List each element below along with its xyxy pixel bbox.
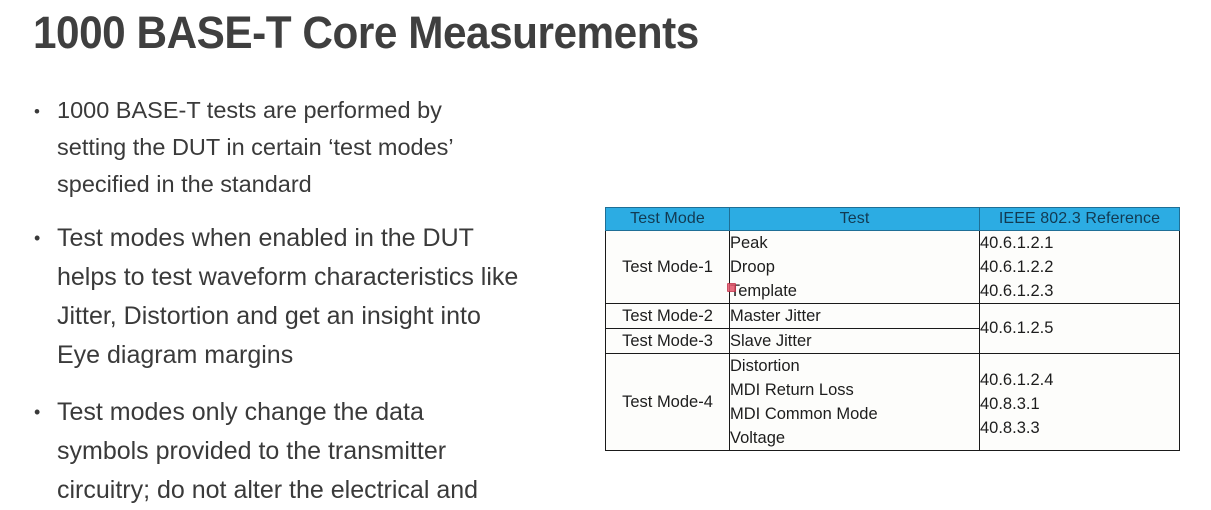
- comment-anchor-icon[interactable]: [727, 283, 736, 292]
- table-row: Test Mode-1 Peak Droop Template 40.6.1.2…: [606, 231, 1180, 304]
- measurements-table-container: Test Mode Test IEEE 802.3 Reference Test…: [605, 207, 1179, 451]
- table-row: Test Mode-4 Distortion MDI Return Loss M…: [606, 354, 1180, 451]
- list-item: • 1000 BASE-T tests are performed by set…: [28, 92, 588, 203]
- cell-test-mode: Test Mode-1: [606, 231, 730, 304]
- reference-clause: 40.8.3.3: [980, 416, 1179, 440]
- cell-reference: 40.6.1.2.5: [980, 304, 1180, 354]
- cell-test-list: Distortion MDI Return Loss MDI Common Mo…: [730, 354, 980, 451]
- bullet-list: • 1000 BASE-T tests are performed by set…: [28, 92, 588, 510]
- page-title: 1000 BASE-T Core Measurements: [33, 2, 699, 64]
- test-name: MDI Return Loss: [730, 378, 979, 402]
- cell-test-list: Peak Droop Template: [730, 231, 980, 304]
- test-name: MDI Common Mode: [730, 402, 979, 426]
- table-header: Test Mode Test IEEE 802.3 Reference: [606, 208, 1180, 231]
- reference-clause: 40.6.1.2.4: [980, 368, 1179, 392]
- table-row: Test Mode-2 Master Jitter 40.6.1.2.5: [606, 304, 1180, 329]
- list-item: • Test modes only change the data symbol…: [28, 393, 588, 510]
- table-header-row: Test Mode Test IEEE 802.3 Reference: [606, 208, 1180, 231]
- cell-test-mode: Test Mode-2: [606, 304, 730, 329]
- cell-test-mode: Test Mode-4: [606, 354, 730, 451]
- reference-clause: 40.6.1.2.3: [980, 279, 1179, 303]
- reference-clause: 40.6.1.2.1: [980, 231, 1179, 255]
- list-item-text: Test modes only change the data symbols …: [57, 393, 588, 510]
- column-header-test-mode: Test Mode: [606, 208, 730, 231]
- list-item-text: 1000 BASE-T tests are performed by setti…: [57, 92, 588, 203]
- measurements-table: Test Mode Test IEEE 802.3 Reference Test…: [605, 207, 1180, 451]
- test-name: Droop: [730, 255, 979, 279]
- cell-reference-list: 40.6.1.2.1 40.6.1.2.2 40.6.1.2.3: [980, 231, 1180, 304]
- cell-reference-list: 40.6.1.2.4 40.8.3.1 40.8.3.3: [980, 354, 1180, 451]
- test-name: Distortion: [730, 354, 979, 378]
- reference-clause: 40.6.1.2.2: [980, 255, 1179, 279]
- list-item-text: Test modes when enabled in the DUT helps…: [57, 219, 588, 375]
- test-name: Template: [730, 279, 979, 303]
- cell-test-name: Master Jitter: [730, 304, 980, 329]
- bullet-dot-icon: •: [34, 93, 40, 130]
- cell-test-name: Slave Jitter: [730, 329, 980, 354]
- bullet-dot-icon: •: [34, 393, 40, 432]
- cell-test-mode: Test Mode-3: [606, 329, 730, 354]
- list-item: • Test modes when enabled in the DUT hel…: [28, 219, 588, 375]
- bullet-dot-icon: •: [34, 219, 40, 258]
- table-body: Test Mode-1 Peak Droop Template 40.6.1.2…: [606, 231, 1180, 451]
- column-header-test: Test: [730, 208, 980, 231]
- column-header-ieee-reference: IEEE 802.3 Reference: [980, 208, 1180, 231]
- test-name: Peak: [730, 231, 979, 255]
- test-name: Voltage: [730, 426, 979, 450]
- reference-clause: 40.8.3.1: [980, 392, 1179, 416]
